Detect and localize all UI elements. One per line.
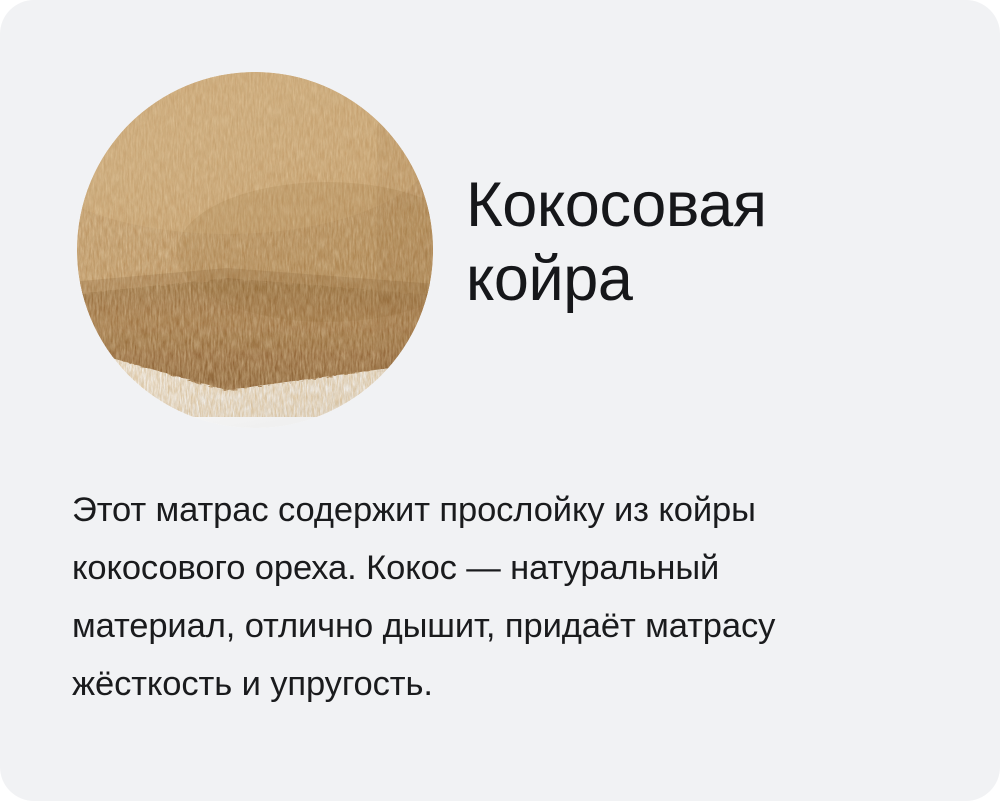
product-description: Этот матрас содержит прослойку из койры … (72, 481, 952, 713)
page-title: Кокосовая койра (466, 168, 936, 317)
coconut-coir-image (77, 72, 433, 428)
product-feature-card: Кокосовая койра Этот матрас содержит про… (0, 0, 1000, 801)
hero-section: Кокосовая койра (0, 0, 1000, 460)
page-root: Кокосовая койра Этот матрас содержит про… (0, 0, 1000, 801)
